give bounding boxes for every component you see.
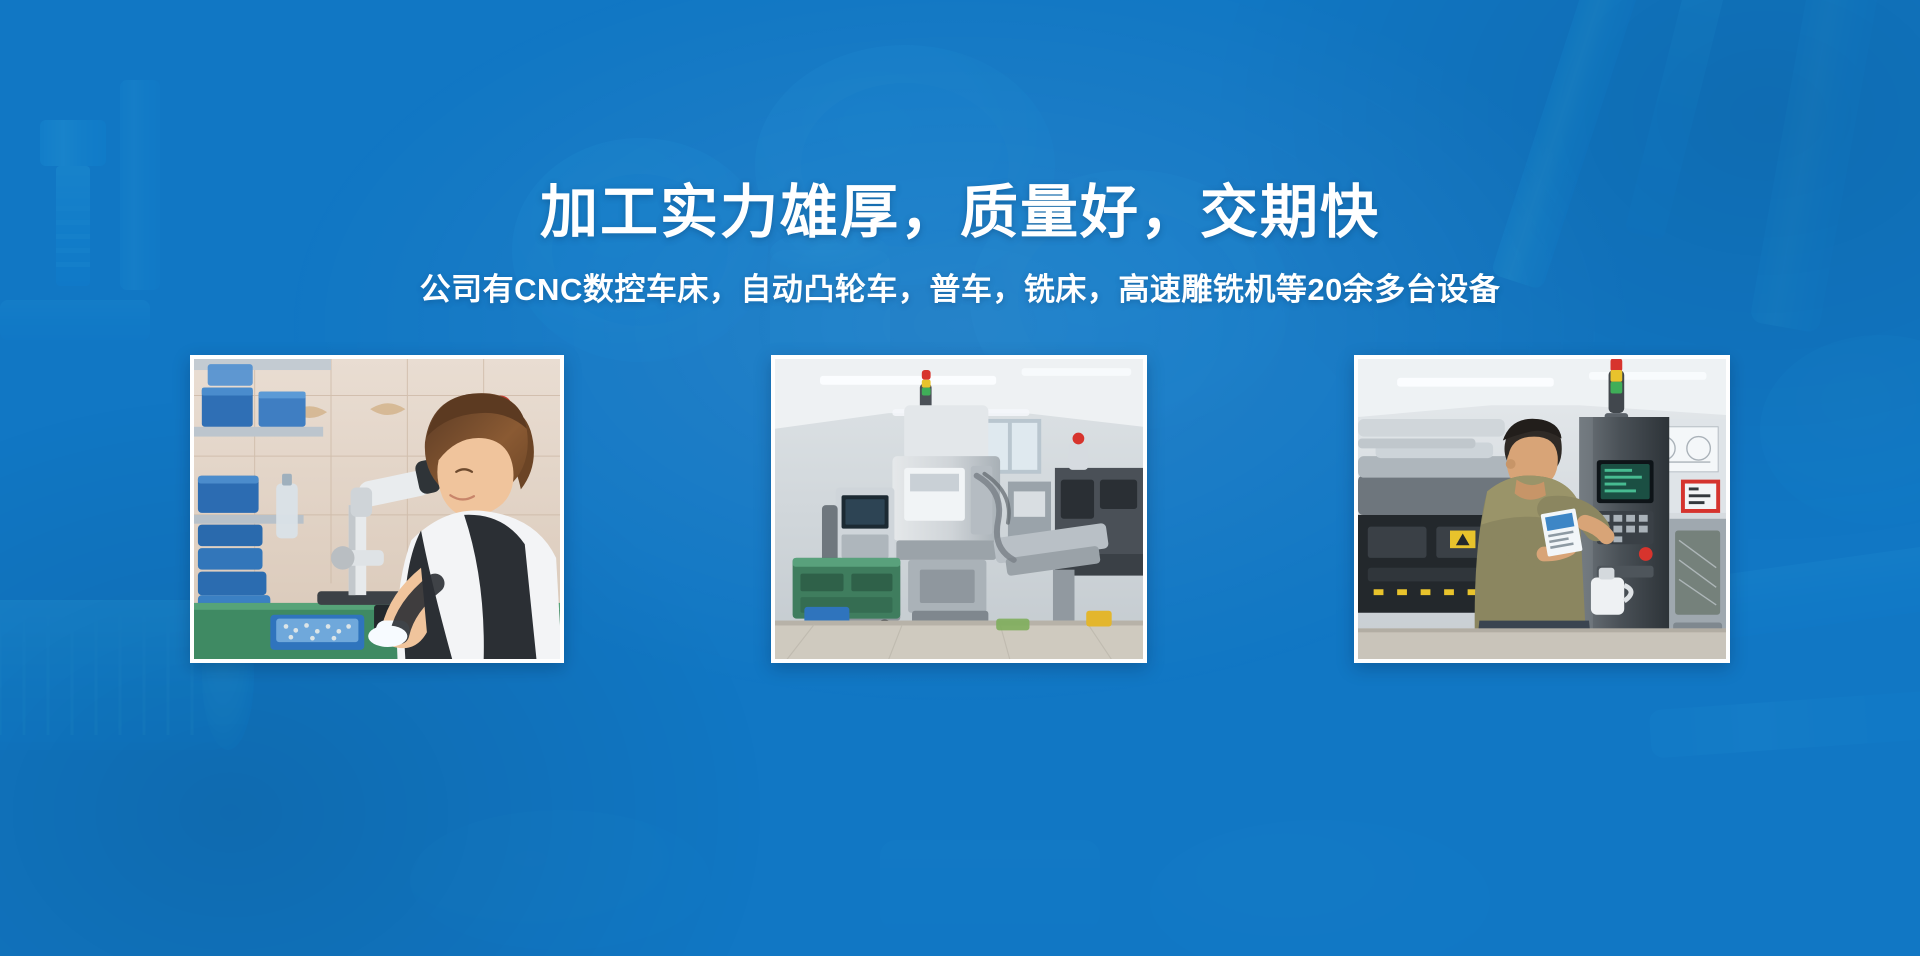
- photo-cnc-workshop[interactable]: [771, 355, 1147, 663]
- banner-subheadline: 公司有CNC数控车床，自动凸轮车，普车，铣床，高速雕铣机等20余多台设备: [0, 271, 1920, 308]
- photo-strip: [190, 355, 1730, 663]
- promo-banner: 加工实力雄厚，质量好，交期快 公司有CNC数控车床，自动凸轮车，普车，铣床，高速…: [0, 0, 1920, 956]
- banner-headline: 加工实力雄厚，质量好，交期快: [0, 182, 1920, 243]
- banner-copy: 加工实力雄厚，质量好，交期快 公司有CNC数控车床，自动凸轮车，普车，铣床，高速…: [0, 182, 1920, 309]
- photo-microscope-inspection[interactable]: [190, 355, 564, 663]
- photo-operator-machine[interactable]: [1354, 355, 1730, 663]
